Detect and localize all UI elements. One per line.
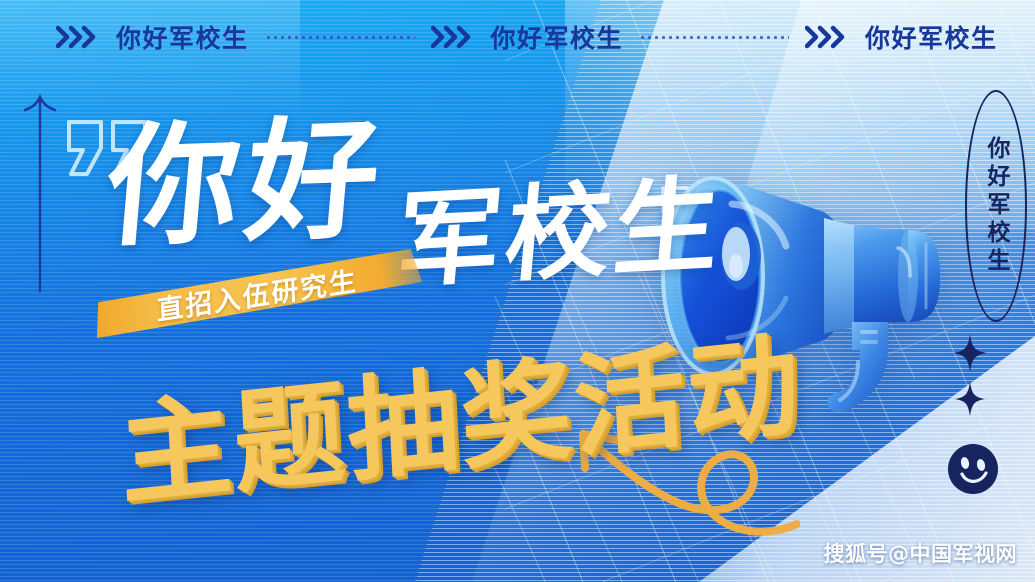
vertical-badge-label: 你好军校生 (965, 90, 1027, 322)
headline-primary: 你好 (102, 119, 390, 250)
double-chevron-right-icon (56, 25, 102, 49)
double-chevron-right-icon (805, 25, 851, 49)
up-arrow-icon (22, 88, 58, 298)
watermark: 搜狐号@中国军视网 (824, 538, 1018, 568)
vertical-badge: 你好军校生 (965, 90, 1027, 322)
dotted-line-divider (639, 36, 789, 39)
ribbon-label: 你好军校生 (116, 19, 249, 55)
headline-secondary: 军校生 (393, 178, 727, 290)
ribbon-unit: 你好军校生 (56, 19, 249, 55)
ribbon-label: 你好军校生 (491, 19, 624, 55)
dotted-line-divider (265, 36, 415, 39)
top-ribbon: 你好军校生 你好军校生 你好军校生 (0, 0, 1035, 74)
ribbon-unit: 你好军校生 (805, 19, 998, 55)
smiley-face-icon (947, 443, 999, 500)
four-point-sparkle-icon (953, 334, 987, 377)
ribbon-label: 你好军校生 (865, 19, 998, 55)
four-point-sparkle-icon (955, 382, 985, 421)
ribbon-unit: 你好军校生 (431, 19, 624, 55)
promo-banner: 你好军校生 你好军校生 你好军校生 (0, 0, 1035, 582)
double-chevron-right-icon (431, 25, 477, 49)
